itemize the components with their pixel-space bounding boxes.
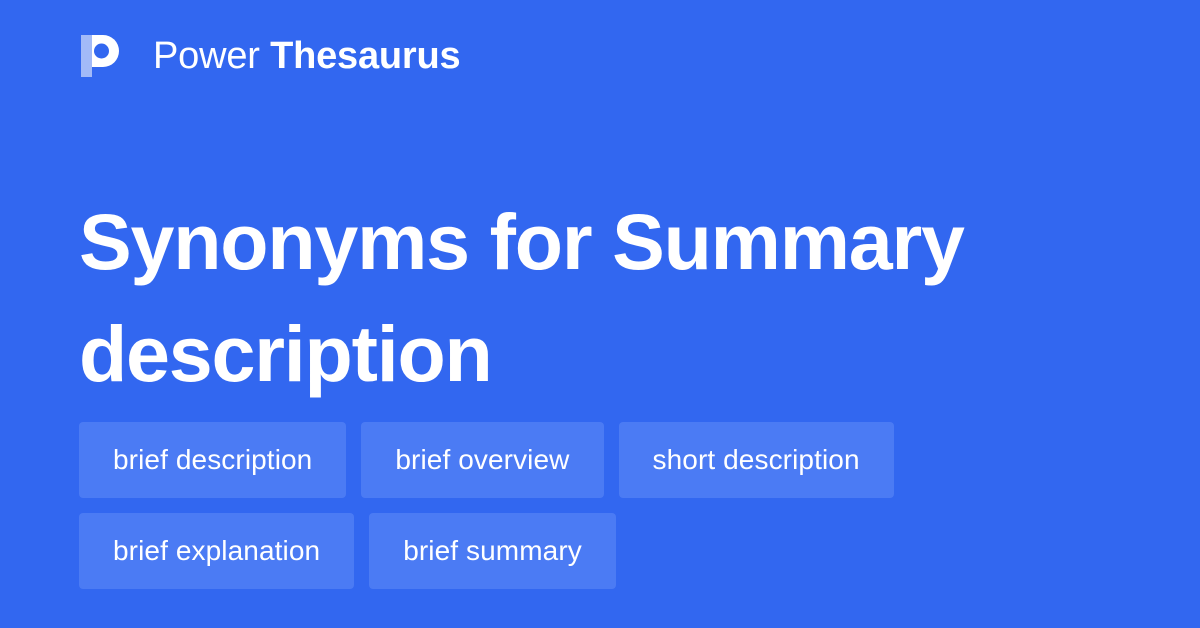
brand-name-part2: Thesaurus — [270, 35, 460, 77]
synonym-chip-label: brief summary — [403, 513, 582, 589]
synonym-chip[interactable]: brief description — [79, 422, 346, 498]
page-title-line-1: Synonyms for Summary — [79, 186, 1119, 298]
synonym-chip-label: brief description — [113, 422, 312, 498]
brand-name: Power Thesaurus — [153, 33, 460, 79]
synonym-chip[interactable]: brief summary — [369, 513, 616, 589]
brand-name-part1: Power — [153, 35, 270, 77]
page-title: Synonyms for Summary description — [79, 186, 1119, 410]
synonym-chip-label: brief overview — [395, 422, 569, 498]
share-card: Power Thesaurus Synonyms for Summary des… — [0, 0, 1200, 628]
power-thesaurus-logo-icon — [79, 33, 125, 79]
brand-header[interactable]: Power Thesaurus — [79, 30, 460, 82]
synonym-chip-label: brief explanation — [113, 513, 320, 589]
synonym-chip-label: short description — [653, 422, 860, 498]
synonym-chip[interactable]: brief overview — [361, 422, 603, 498]
synonym-chip[interactable]: short description — [619, 422, 894, 498]
synonym-chip[interactable]: brief explanation — [79, 513, 354, 589]
page-title-line-2: description — [79, 298, 1119, 410]
synonym-chip-list: brief description brief overview short d… — [79, 422, 1129, 589]
